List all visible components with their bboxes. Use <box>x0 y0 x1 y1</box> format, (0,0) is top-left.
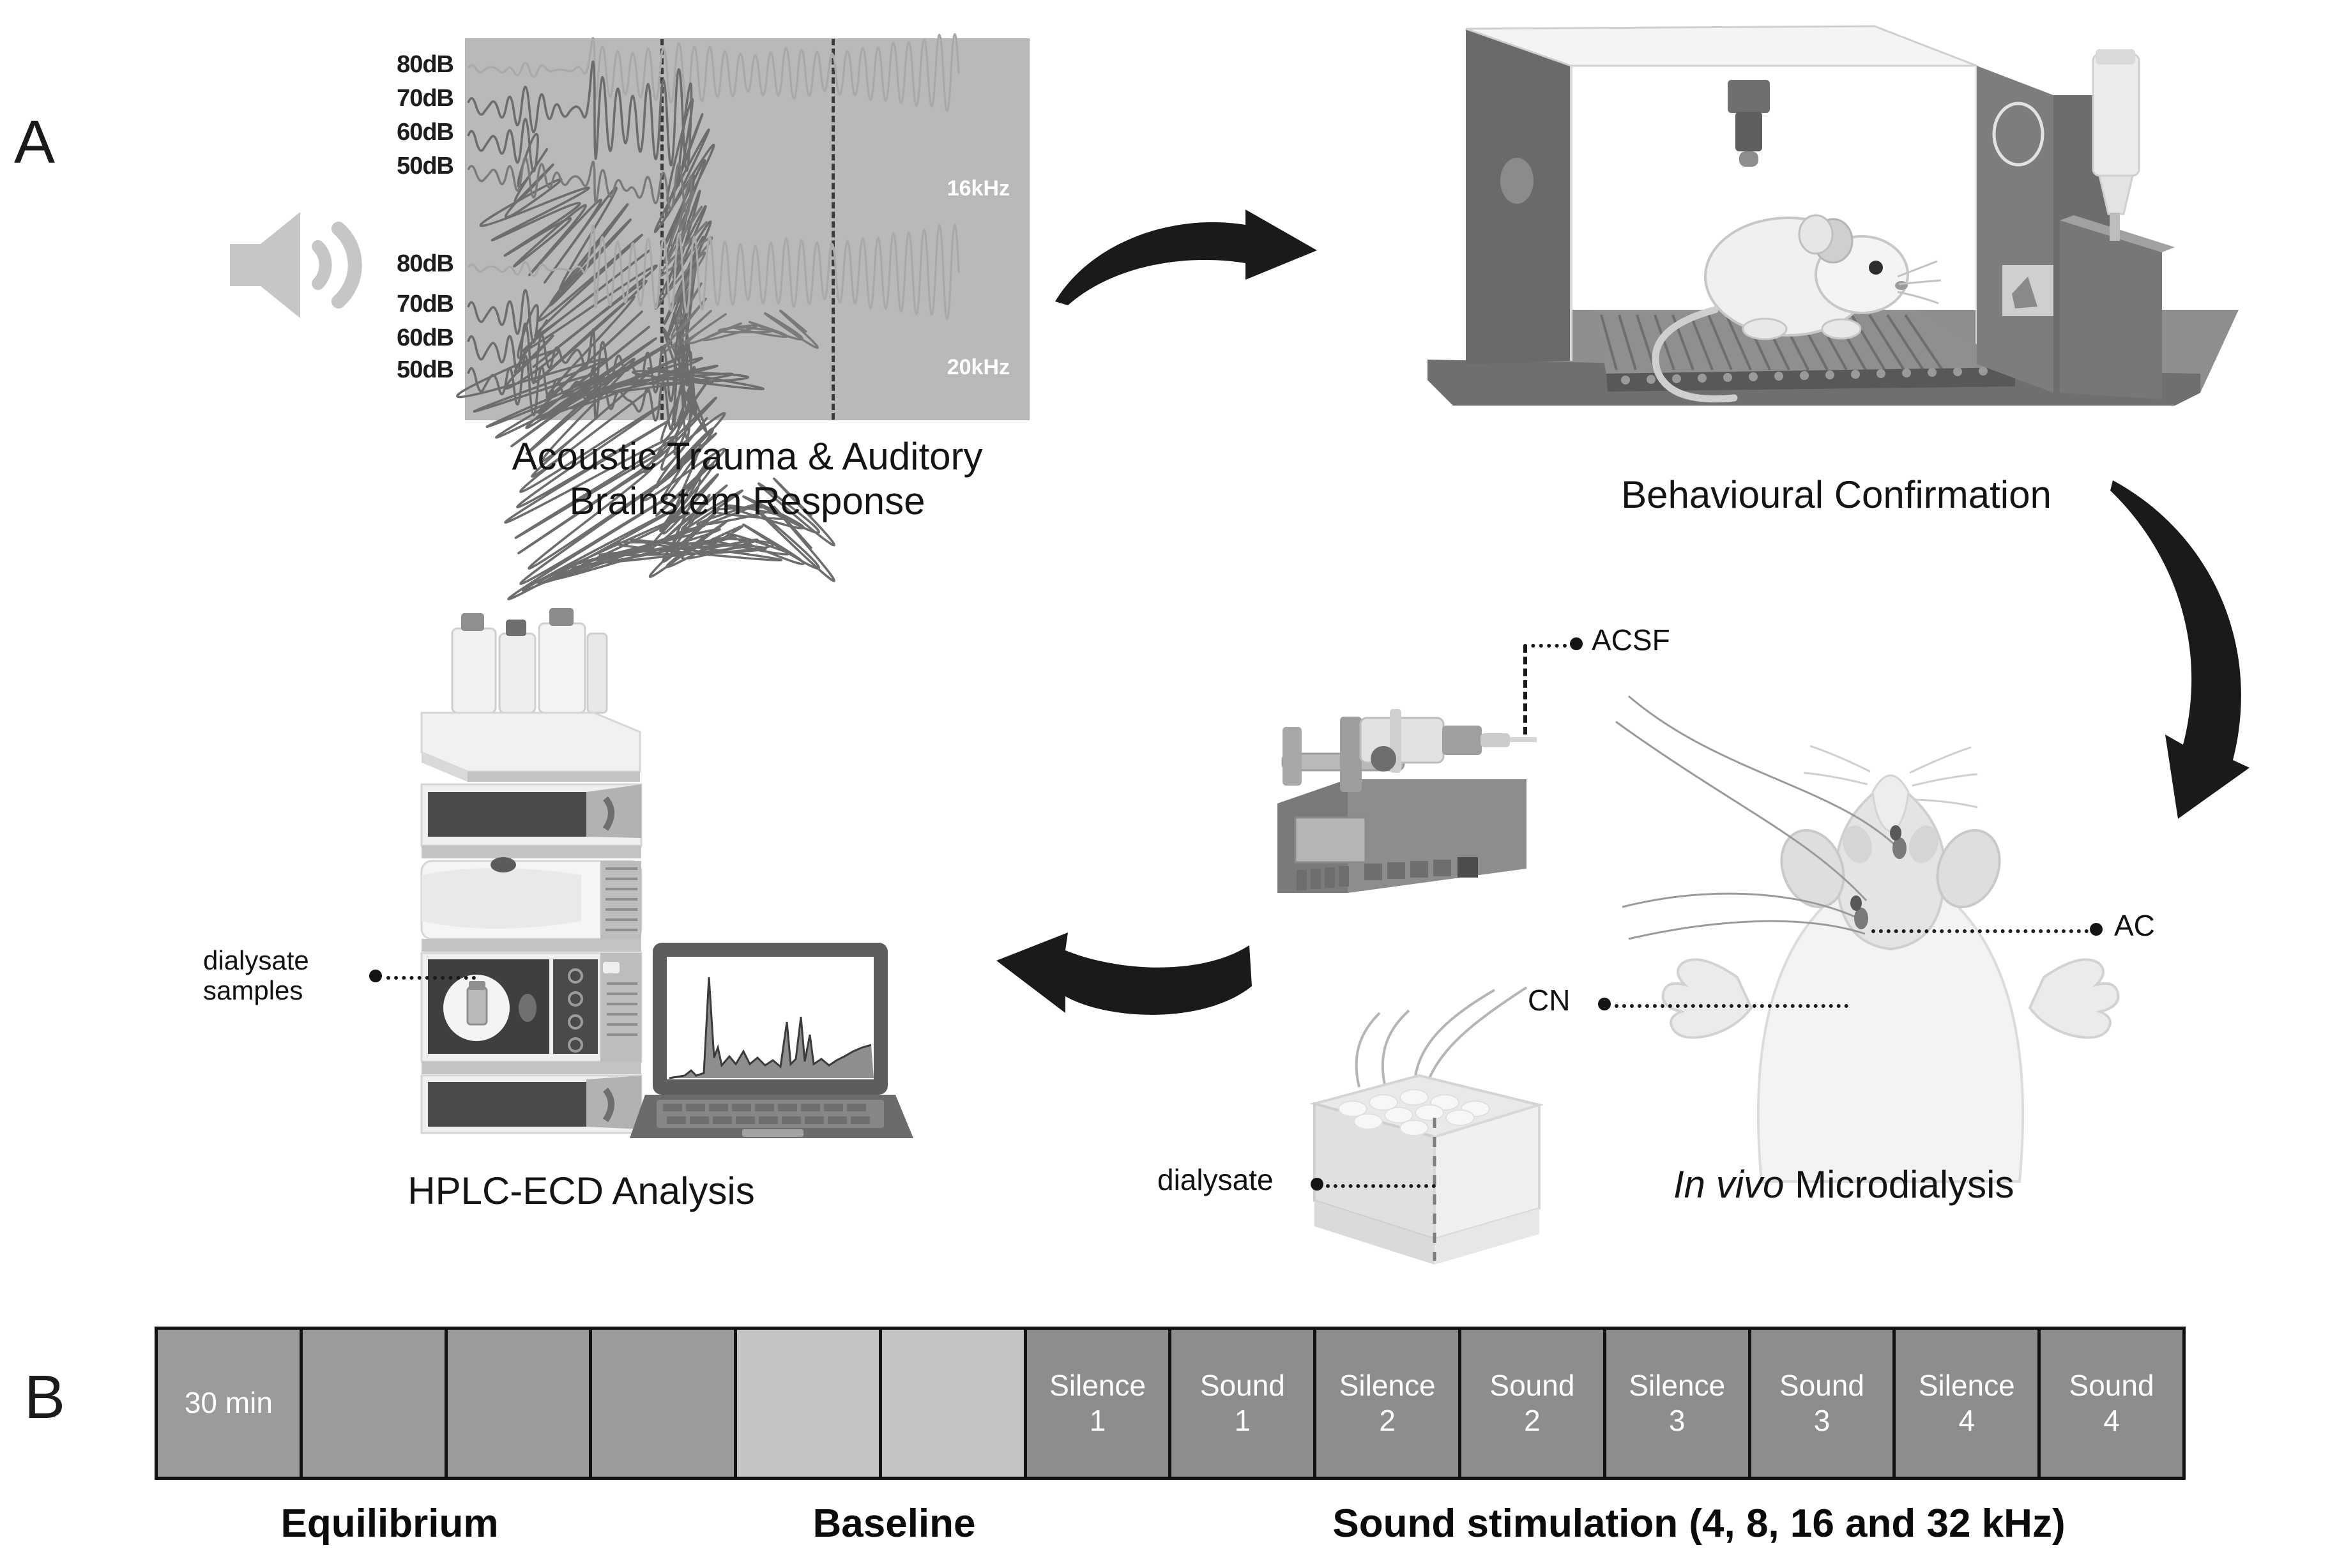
timeline-block[interactable]: Silence 1 <box>1027 1330 1172 1477</box>
timeline-block-label: Silence <box>1629 1368 1725 1403</box>
timeline-block[interactable]: Sound 3 <box>1751 1330 1896 1477</box>
abr-traces <box>466 39 1029 420</box>
timeline-block-label: 30 min <box>185 1385 273 1420</box>
abr-db-label-bottom-60: 60dB <box>358 324 453 352</box>
dialysate-samples-leader-line <box>386 976 476 980</box>
arrow-abr-to-behaviour-icon <box>1054 192 1386 383</box>
timeline-phase-caption-equilibrium: Equilibrium <box>192 1501 588 1546</box>
timeline-block-label: Silence <box>1339 1368 1436 1403</box>
timeline-phase-caption-stimulation: Sound stimulation (4, 8, 16 and 32 kHz) <box>1194 1501 2204 1546</box>
abr-db-label-top-60: 60dB <box>358 119 453 146</box>
dialysate-label: dialysate <box>1157 1162 1274 1197</box>
abr-caption: Acoustic Trauma & Auditory Brainstem Res… <box>434 434 1060 523</box>
abr-waveform-plot: 16kHz 20kHz <box>465 38 1030 420</box>
acsf-label: ACSF <box>1592 623 1670 657</box>
behaviour-caption: Behavioural Confirmation <box>1459 473 2213 517</box>
experimental-timeline: 30 min Silence 1 Sound 1 Silence 2 Sound… <box>155 1327 2186 1480</box>
timeline-block-sub: 1 <box>1235 1403 1251 1438</box>
timeline-block[interactable] <box>448 1330 593 1477</box>
timeline-block-sub: 4 <box>1958 1403 1975 1438</box>
ac-leader-dot <box>2090 923 2103 936</box>
timeline-block[interactable]: Silence 2 <box>1316 1330 1461 1477</box>
timeline-block-sub: 1 <box>1090 1403 1106 1438</box>
acsf-leader-line-horizontal <box>1523 644 1567 648</box>
timeline-block[interactable]: 30 min <box>158 1330 303 1477</box>
timeline-block-label: Silence <box>1049 1368 1146 1403</box>
abr-frequency-label-bottom: 20kHz <box>947 355 1010 380</box>
laptop-chromatogram-illustration <box>645 939 913 1150</box>
dialysate-leader-dot <box>1311 1178 1323 1191</box>
microdialysis-caption: In vivo Microdialysis <box>1673 1162 2223 1207</box>
dialysate-samples-leader-dot <box>369 970 382 982</box>
dialysate-samples-label-line-2: samples <box>203 975 309 1005</box>
timeline-block-label: Sound <box>1489 1368 1574 1403</box>
abr-db-label-top-80: 80dB <box>358 51 453 79</box>
timeline-block-sub: 2 <box>1379 1403 1396 1438</box>
cn-leader-dot <box>1598 998 1611 1010</box>
timeline-block-sub: 2 <box>1524 1403 1541 1438</box>
timeline-block[interactable] <box>592 1330 737 1477</box>
acsf-leader-dot <box>1570 637 1583 650</box>
timeline-block-label: Sound <box>1200 1368 1285 1403</box>
timeline-block-label: Sound <box>2069 1368 2154 1403</box>
rat-illustration <box>1641 696 2204 1201</box>
microdialysis-caption-rest: Microdialysis <box>1784 1163 2014 1206</box>
microdialysis-caption-italic: In vivo <box>1673 1163 1784 1206</box>
timeline-block-sub: 4 <box>2103 1403 2120 1438</box>
speaker-wave-icon <box>217 204 377 326</box>
ac-leader-line <box>1871 929 2089 933</box>
syringe-pump-illustration <box>1271 690 1539 901</box>
abr-db-label-bottom-50: 50dB <box>358 356 453 384</box>
behaviour-chamber-illustration <box>1415 10 2274 444</box>
timeline-block[interactable] <box>737 1330 882 1477</box>
timeline-block[interactable]: Sound 1 <box>1171 1330 1316 1477</box>
timeline-block[interactable]: Silence 3 <box>1606 1330 1751 1477</box>
dialysate-samples-label: dialysate samples <box>203 945 309 1005</box>
abr-db-label-top-50: 50dB <box>358 153 453 180</box>
timeline-block-sub: 3 <box>1814 1403 1831 1438</box>
dialysate-leader-line <box>1326 1184 1436 1188</box>
timeline-block-label: Silence <box>1919 1368 2015 1403</box>
timeline-block[interactable] <box>303 1330 448 1477</box>
ac-label: AC <box>2114 908 2155 943</box>
timeline-block[interactable]: Sound 2 <box>1461 1330 1606 1477</box>
abr-frequency-label-top: 16kHz <box>947 176 1010 201</box>
abr-db-label-bottom-70: 70dB <box>358 291 453 318</box>
abr-caption-line-1: Acoustic Trauma & Auditory <box>434 434 1060 479</box>
abr-db-label-bottom-80: 80dB <box>358 250 453 278</box>
cn-leader-line <box>1615 1004 1848 1008</box>
timeline-block-label: Sound <box>1779 1368 1864 1403</box>
panel-letter-a: A <box>14 112 55 173</box>
timeline-block[interactable] <box>882 1330 1027 1477</box>
timeline-block[interactable]: Silence 4 <box>1896 1330 2041 1477</box>
hplc-caption: HPLC-ECD Analysis <box>358 1169 805 1214</box>
abr-caption-line-2: Brainstem Response <box>434 479 1060 524</box>
timeline-block[interactable]: Sound 4 <box>2041 1330 2182 1477</box>
acsf-leader-line-vertical <box>1523 645 1527 735</box>
timeline-block-sub: 3 <box>1669 1403 1686 1438</box>
timeline-phase-caption-baseline: Baseline <box>735 1501 1054 1546</box>
arrow-microdialysis-to-hplc-icon <box>994 925 1339 1085</box>
dialysate-samples-label-line-1: dialysate <box>203 945 309 975</box>
abr-db-label-top-70: 70dB <box>358 85 453 112</box>
panel-letter-b: B <box>24 1367 65 1428</box>
